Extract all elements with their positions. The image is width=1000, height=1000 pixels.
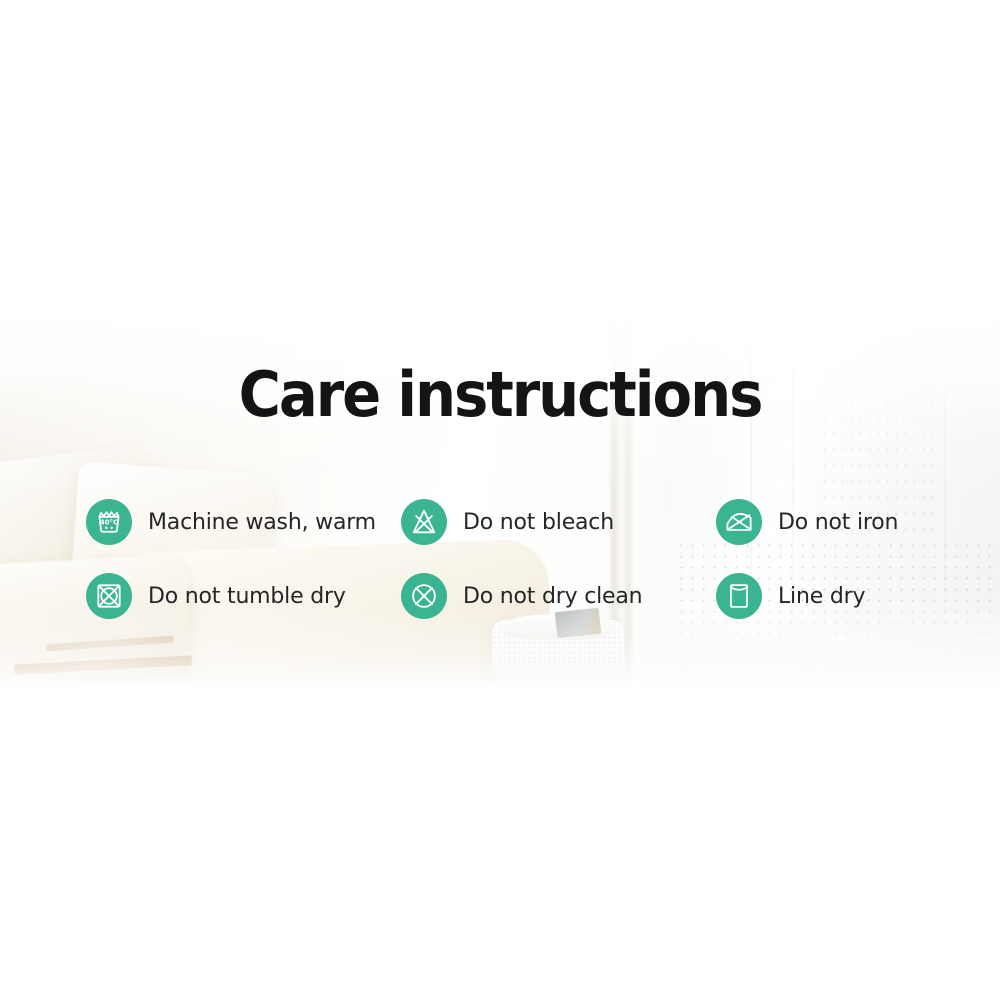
page-root: Care instructions 40°C — [0, 0, 1000, 1000]
care-item-do-not-bleach: Do not bleach — [401, 499, 716, 545]
line-dry-icon — [716, 573, 762, 619]
care-instructions-banner: Care instructions 40°C — [0, 308, 1000, 690]
care-item-label: Do not iron — [778, 510, 898, 535]
care-instructions-grid: 40°C Machine wash, warm — [86, 485, 966, 633]
page-title: Care instructions — [35, 364, 965, 426]
banner-content: Care instructions 40°C — [0, 308, 1000, 690]
wash-temperature-text: 40°C — [100, 518, 118, 526]
do-not-tumble-dry-icon — [86, 573, 132, 619]
care-item-label: Do not tumble dry — [148, 584, 346, 609]
care-item-label: Line dry — [778, 584, 865, 609]
care-item-line-dry: Line dry — [716, 573, 966, 619]
care-item-do-not-iron: Do not iron — [716, 499, 966, 545]
machine-wash-warm-icon: 40°C — [86, 499, 132, 545]
do-not-iron-icon — [716, 499, 762, 545]
care-item-machine-wash-warm: 40°C Machine wash, warm — [86, 499, 401, 545]
care-item-label: Do not bleach — [463, 510, 614, 535]
do-not-dry-clean-icon — [401, 573, 447, 619]
care-item-do-not-dry-clean: Do not dry clean — [401, 573, 716, 619]
care-item-do-not-tumble-dry: Do not tumble dry — [86, 573, 401, 619]
care-item-label: Do not dry clean — [463, 584, 642, 609]
do-not-bleach-icon — [401, 499, 447, 545]
care-item-label: Machine wash, warm — [148, 510, 376, 535]
